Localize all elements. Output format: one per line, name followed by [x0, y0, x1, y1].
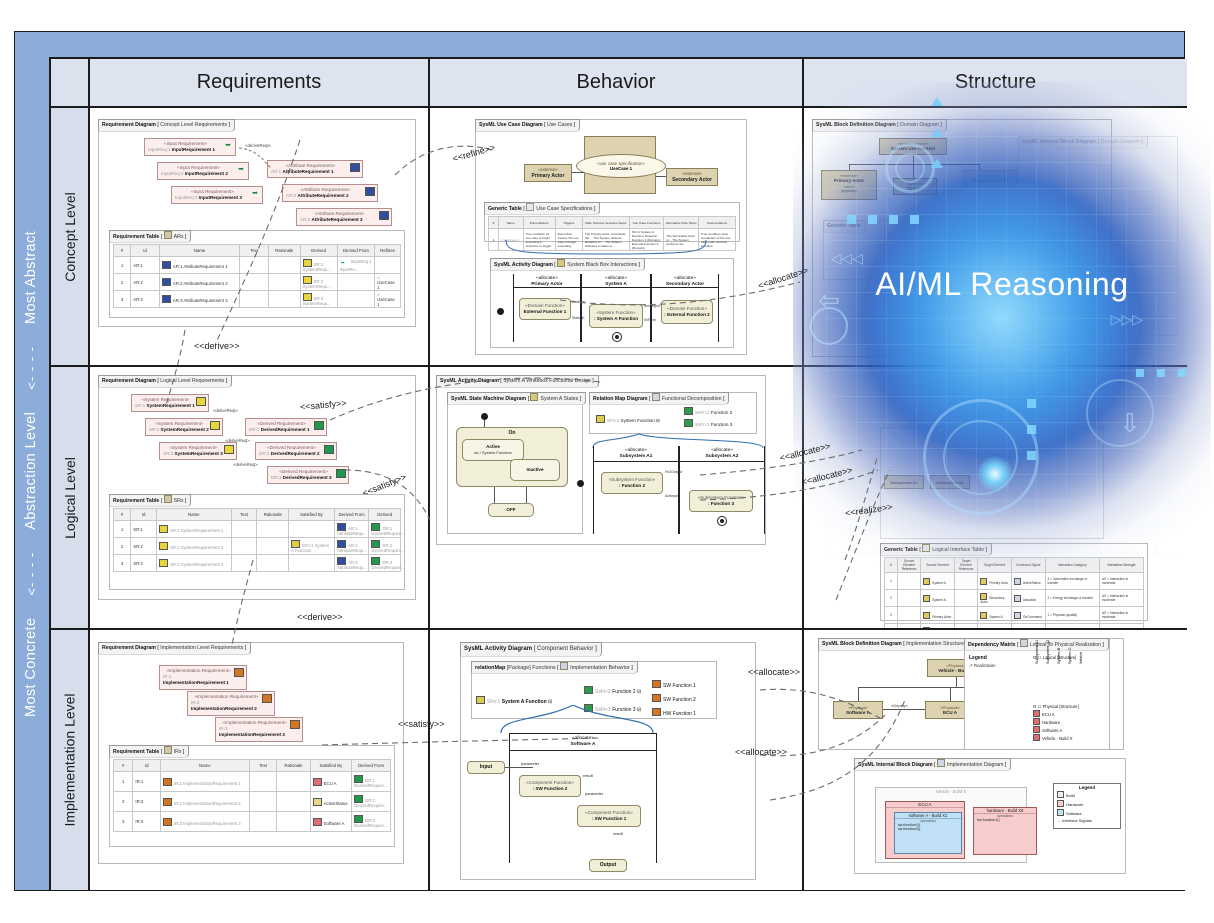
block-subsystem-a1[interactable]: Subsystem A1: [884, 475, 924, 489]
cell-id: IR:1: [133, 772, 161, 792]
matrix-legend-item: ↗ Realization: [969, 663, 1031, 669]
function-icon: [476, 696, 485, 704]
req-id: InputReq:1: [148, 147, 170, 152]
req-id: AR:3: [300, 217, 310, 222]
cell-concept-requirements: Requirement Diagram [ Concept Level Requ…: [90, 108, 430, 367]
action-external-function-2[interactable]: «Domain Function» : External Function 2: [661, 300, 713, 324]
cell-name: SR:1 SystemRequirement 1: [157, 521, 232, 538]
cell-id: AR:2: [131, 274, 160, 291]
ibd-legend: Legend Build Hardware Software → Interfa…: [1053, 783, 1121, 829]
table-row[interactable]: 3 AR:3 AR:3 AttributeRequirement 3 SR:3 …: [114, 291, 401, 308]
generic-table-usecase-specs: Generic Table [ Use Case Specifications …: [484, 202, 740, 242]
diagram-title-tab: SysML Use Case Diagram [ Use Cases ]: [475, 119, 580, 132]
matrix-row-1[interactable]: ECU A: [1033, 710, 1106, 717]
physical-icon: [1033, 734, 1040, 741]
cell-name: SR:3 SystemRequirement 3: [157, 555, 232, 572]
table-row[interactable]: 3 SR:3 SR:3 SystemRequirement 3 AR:3 Att…: [114, 555, 401, 572]
signal-icon: [1014, 612, 1021, 619]
legend-item-hardware: Hardware: [1054, 799, 1120, 808]
cell-concept-structure: SysML Block Definition Diagram [ Domain …: [804, 108, 1187, 367]
th-id: Id: [131, 509, 157, 521]
th-preconditions: Preconditions: [523, 217, 555, 229]
diagram-kind: Requirement Diagram: [102, 645, 156, 651]
pin-label-statusin: StatusIn: [572, 316, 584, 320]
th-name: Name: [159, 245, 239, 257]
th-num: #: [114, 509, 131, 521]
th-derived-from: Derived From: [334, 509, 368, 521]
action-sw-function-2[interactable]: «Component Function» : SW Function 2: [519, 775, 581, 797]
yellow-req-icon: [159, 559, 168, 567]
green-req-icon: [354, 795, 363, 803]
diagram-name: Use Cases: [547, 122, 572, 128]
diagram-kind: SysML Block Definition Diagram: [816, 122, 896, 128]
cell-strength: 4/2 = Interaction is moderate: [1099, 607, 1143, 624]
cell-rationale: [268, 291, 300, 308]
blue-req-icon: [162, 278, 171, 286]
cell-satisfied-by: [289, 555, 335, 572]
cell-text: [249, 772, 277, 792]
cell-name: IR:3 ImplementationRequirement 3: [161, 812, 250, 832]
table-chip-icon: [164, 746, 172, 754]
cell-num: 3: [114, 812, 133, 832]
orange-req-icon: [234, 668, 244, 677]
cell-tgt: Secondary Actor: [978, 590, 1012, 607]
diagram-kind: Requirement Diagram: [102, 122, 156, 128]
diagram-kind: SysML Use Case Diagram: [479, 122, 543, 128]
relmap-mid-2[interactable]: SsFn:2 Function 2 ⊟: [584, 686, 641, 695]
table-row[interactable]: 3 Primary Actor System A OnCommand 1 = P…: [885, 607, 1144, 624]
table-chip-icon: [526, 203, 534, 211]
diagram-kind: SysML Activity Diagram: [440, 378, 499, 384]
cell-id: SR:2: [131, 538, 157, 555]
state-inactive[interactable]: Inactive: [510, 459, 560, 481]
cell-num: 3: [114, 555, 131, 572]
table-tab-name: ARs: [174, 234, 184, 240]
matrix-col-2: Subsystem A2: [1046, 640, 1050, 664]
build-swatch-icon: [1057, 791, 1064, 798]
table-chip-icon: [164, 231, 172, 239]
blue-req-icon: [365, 187, 375, 196]
cell-num: 2: [114, 274, 131, 291]
orange-req-icon: [262, 694, 272, 703]
req-box-impl-2[interactable]: «Implementation Requirement» IR:2 Implem…: [187, 691, 275, 716]
action-system-a-function[interactable]: «System Function» : System A Function: [589, 304, 643, 328]
table-tab-name: IRs: [174, 749, 182, 755]
logical-swimlanes: «allocate»Subsystem A1 «allocate»Subsyst…: [593, 446, 765, 534]
table-chip-icon: [164, 495, 172, 503]
cell-id: SR:1: [131, 521, 157, 538]
th-functions: Use Case Functions: [629, 217, 664, 229]
green-req-icon: [354, 775, 363, 783]
req-box-derived-3[interactable]: «Derived Requirement» DR:3 DerivedRequir…: [267, 466, 349, 484]
diagram-name: Implementation Diagram: [947, 762, 1004, 768]
block-secondary-actor[interactable]: «external» Secondary Actor: [666, 168, 718, 186]
green-arrow-icon: ➥: [236, 165, 246, 174]
relation-label-derive-1: <<derive>>: [194, 341, 240, 351]
cell-refines: [375, 257, 401, 274]
cell-derived-from: ➥InputReq:1 InputRe...: [337, 257, 374, 274]
requirement-table-logical: Requirement Table [ SRs ] # Id Name Text…: [109, 494, 405, 590]
diagram-title-tab: SysML Activity Diagram [ System Black Bo…: [490, 258, 645, 271]
actor-name: Secondary Actor: [672, 177, 712, 183]
initial-node: [497, 308, 504, 315]
relmap-package: [Package] Functions: [507, 665, 556, 671]
diagram-name: Concept Level Requirements: [160, 122, 227, 128]
pin-label-cmdout: CmdOut: [572, 300, 585, 304]
th-src: Source Element: [921, 558, 955, 573]
matrix-col-5: Vehicle: [1079, 652, 1083, 664]
software-swatch-icon: [1057, 809, 1064, 816]
edge-label-derivereqt: «deriveReqt»: [245, 143, 271, 148]
ibd-implementation-diagram: SysML Internal Block Diagram [ Implement…: [854, 758, 1126, 874]
part-software-a[interactable]: software A - Build X1 operations sw func…: [894, 812, 962, 854]
matrix-row-3[interactable]: Software A: [1033, 726, 1106, 733]
req-id: AR:1: [271, 169, 281, 174]
diagram-name: System A States: [540, 396, 578, 402]
diagram-name: Implementation Level Requirements: [160, 645, 243, 651]
cell-satisfied-by: ActiveStatus: [310, 792, 352, 812]
relation-label-derive-2: <<derive>>: [297, 612, 343, 622]
block-system-use-context[interactable]: «system context» System Use Context: [879, 138, 947, 155]
concept-requirements-table: # Id Name Text Rationale Derived Derived…: [113, 244, 401, 308]
th-signal: Command Signal: [1011, 558, 1045, 573]
cell-category: 1 = Physical (spatial): [1045, 607, 1099, 624]
requirement-table-implementation: Requirement Table [ IRs ] # Id Name Text…: [109, 745, 395, 847]
relmap-root[interactable]: SFn:1 System Function ⊟: [596, 415, 660, 424]
software-icon: [313, 818, 322, 826]
requirement-diagram-concept: Requirement Diagram [ Concept Level Requ…: [98, 119, 416, 327]
part-hardware-build-x0[interactable]: hardware - Build X0 operations hw functi…: [973, 807, 1037, 855]
diagram-title-tab: Requirement Diagram [ Concept Level Requ…: [98, 119, 235, 132]
diagram-kind: Requirement Diagram: [102, 378, 156, 384]
yellow-req-icon: [224, 445, 234, 454]
cell-rationale: [257, 521, 289, 538]
pin-label-fn2output: Fn2Output: [665, 470, 682, 474]
th-id: Id: [133, 760, 161, 772]
row-header-logical-level: Logical Level: [51, 367, 90, 630]
pin-label-parameter-1: parameter: [521, 761, 539, 766]
action-function-3[interactable]: «Subsystem Function» : Function 3: [689, 490, 753, 512]
cell-num: 2: [885, 590, 898, 607]
table-title-tab: Generic Table [ Use Case Specifications …: [484, 202, 600, 215]
diagram-kind: SysML State Machine Diagram: [451, 396, 526, 402]
th-text: Text: [249, 760, 277, 772]
cell-derived-from: AR:2 AttributeRequ...: [334, 538, 368, 555]
usecase-ellipse[interactable]: «use case specification» UseCase 1: [576, 154, 666, 178]
table-row[interactable]: 1 IR:1 IR:1 ImplementationRequirement 1 …: [114, 772, 391, 792]
pin-label-snsoutput: SnsOutput: [644, 304, 660, 308]
diagram-name: System Black Box Interactions: [567, 262, 637, 268]
edge-label-derivereqt-2: «deriveReqt»: [225, 438, 250, 443]
subfunction-icon: [584, 686, 593, 694]
diagram-title-tab: SysML Internal Block Diagram [ Implement…: [854, 758, 1011, 771]
matrix-name: Logical To Physical Realization: [1030, 642, 1101, 648]
yellow-req-icon: [210, 421, 220, 430]
physical-icon: [1033, 710, 1040, 717]
subfunction-icon: [684, 407, 693, 415]
th-num: #: [489, 217, 499, 229]
matrix-corner-cell: [51, 59, 90, 108]
cell-impl-requirements: Requirement Diagram [ Implementation Lev…: [90, 630, 430, 890]
th-rationale: Rationale: [277, 760, 310, 772]
table-row[interactable]: 2 System A Secondary Actor Actuation 2 =…: [885, 590, 1144, 607]
blue-req-icon: [337, 557, 346, 565]
activity-final-node: [612, 332, 622, 342]
req-id: AR:2: [286, 193, 296, 198]
state-off[interactable]: OFF: [488, 503, 534, 517]
diagram-name: Domain Diagram: [900, 122, 939, 128]
req-box-system-3[interactable]: «System Requirement» SR:3 SystemRequirem…: [159, 442, 237, 460]
physical-icon: [1033, 718, 1040, 725]
req-box-attribute-1[interactable]: «Attribute Requirement» AR:1 AttributeRe…: [267, 160, 363, 178]
table-row[interactable]: 2 AR:2 AR:2 AttributeRequirement 2 SR:2 …: [114, 274, 401, 291]
yellow-req-icon: [159, 542, 168, 550]
cell-derived-from: [337, 274, 374, 291]
activity-diagram-component-behavior: SysML Activity Diagram [ Component Behav…: [460, 642, 756, 880]
table-row[interactable]: 3 IR:3 IR:3 ImplementationRequirement 3 …: [114, 812, 391, 832]
cell-derived: SR:3 SystemRequ...: [300, 291, 337, 308]
cell-refines: ○ UseCase 1: [375, 274, 401, 291]
cell-text: [249, 812, 277, 832]
action-external-function-1[interactable]: «Domain Function» External Function 1: [519, 298, 571, 320]
cell-num: 3: [114, 291, 131, 308]
physical-icon: [1033, 726, 1040, 733]
orange-req-icon: [163, 798, 172, 806]
blue-req-icon: [162, 295, 171, 303]
yellow-req-icon: [159, 525, 168, 533]
table-chip-icon: [922, 544, 930, 552]
matrix-row-2[interactable]: Hardware: [1033, 718, 1106, 725]
relmap-root-impl[interactable]: SFn:1 System A Function ⊟: [476, 696, 552, 705]
block-primary-actor[interactable]: «external» Primary Actor: [524, 164, 572, 182]
relation-label-allocate-4: <<allocate>>: [748, 667, 800, 677]
blue-req-icon: [337, 523, 346, 531]
diagram-title-tab: SysML State Machine Diagram [ System A S…: [447, 392, 586, 405]
cell-id: AR:1: [131, 257, 160, 274]
green-arrow-icon: ➥: [340, 259, 349, 267]
req-box-input-1[interactable]: «Input Requirement» InputReq:1 InputRequ…: [144, 138, 236, 156]
axis-mid-label: Abstraction Level: [24, 411, 40, 529]
cell-strength: 4/2 = Interaction is moderate: [1099, 573, 1143, 590]
activity-final-node: [717, 516, 727, 526]
table-tab-name: Use Case Specifications: [536, 206, 592, 212]
cell-logical-structure: Subsystem A1 Subsystem A2 Generic Table …: [804, 367, 1187, 630]
diagram-title-tab: SysML Block Definition Diagram [ Impleme…: [818, 638, 972, 651]
pin-label-actinput: ActInput: [665, 494, 678, 498]
part-op-1: hw function1(): [974, 818, 1036, 822]
cell-rationale: [277, 812, 310, 832]
block-icon: [980, 578, 987, 585]
req-box-attribute-2[interactable]: «Attribute Requirement» AR:2 AttributeRe…: [282, 184, 378, 202]
function-icon: [291, 540, 300, 548]
generic-table-logical-interfaces: Generic Table [ Logical Interface Table …: [880, 543, 1148, 621]
impl-requirements-table: # Id Name Text Rationale Satisfied By De…: [113, 759, 391, 832]
node-input[interactable]: Input: [467, 761, 505, 774]
cell-category: 3 = Information exchange or transfer: [1045, 573, 1099, 590]
cell-derived: DR:3 DerivedRequire...: [369, 555, 401, 572]
th-derived: Derived: [369, 509, 401, 521]
table-title: Requirement Table: [113, 234, 159, 240]
cell-rationale: [277, 792, 310, 812]
cell-satisfied-by: SFn:1 System A Function: [289, 538, 335, 555]
block-system-domain[interactable]: «system» System: [893, 178, 937, 195]
node-output[interactable]: Output: [589, 859, 627, 872]
logical-requirements-table: # Id Name Text Rationale Satisfied By De…: [113, 508, 401, 572]
block-primary-actor-domain[interactable]: «external» Primary Actor values property…: [821, 170, 877, 200]
diagram-title-tab: relationMap [Package] Functions [ Implem…: [471, 661, 638, 674]
legend-item-interface-signals: → Interface Signals: [1054, 817, 1120, 824]
cell-logical-behavior: SysML Activity Diagram [ System A Whiteb…: [430, 367, 804, 630]
th-derived: Derived: [300, 245, 337, 257]
table-row[interactable]: 1 AR:1 AR:1 AttributeRequirement 1 SR:1 …: [114, 257, 401, 274]
block-icon: [980, 593, 987, 600]
orange-req-icon: [163, 818, 172, 826]
cell-num: 3: [885, 607, 898, 624]
action-function-2[interactable]: «Subsystem Function» : Function 2: [601, 472, 663, 494]
edge-label-derivereqt-3: «deriveReqt»: [233, 462, 258, 467]
ibd-frame-label: vehicle - Build X: [876, 788, 1026, 794]
table-row[interactable]: 2 SR:2 SR:2 SystemRequirement 2 SFn:1 Sy…: [114, 538, 401, 555]
blue-req-icon: [162, 261, 171, 269]
th-postconditions: Postconditions: [698, 217, 735, 229]
diagram-chip-icon: [560, 662, 568, 670]
cell-text: [231, 521, 257, 538]
diagram-chip-icon: [937, 759, 945, 767]
cell-name: AR:2 AttributeRequirement 2: [159, 274, 239, 291]
cell-derived: SR:1 SystemRequ...: [300, 257, 337, 274]
block-icon: [980, 612, 987, 619]
column-header-requirements: Requirements: [90, 59, 430, 108]
th-alt-steps: Alternative Flow Steps: [664, 217, 699, 229]
req-box-input-2[interactable]: «Input Requirement» InputReq:2 InputRequ…: [157, 162, 249, 180]
req-name: AttributeRequirement 3: [312, 217, 363, 222]
diagram-name: Component Behavior: [537, 646, 593, 652]
ibd-domain-diagram: SysML Internal Block Diagram [ Domain Di…: [1018, 136, 1178, 336]
matrix-row-4[interactable]: Vehicle - Build X: [1033, 734, 1106, 741]
req-box-impl-1[interactable]: «Implementation Requirement» IR:1 Implem…: [159, 665, 247, 690]
th-num: #: [114, 245, 131, 257]
cell-text: [240, 274, 269, 291]
cell-name: IR:1 ImplementationRequirement 1: [161, 772, 250, 792]
table-row[interactable]: 1 SR:1 SR:1 SystemRequirement 1 AR:1 Att…: [114, 521, 401, 538]
diagram-chip-icon: [652, 393, 660, 401]
requirement-table-concept: Requirement Table [ ARs ] # Id Name Text…: [109, 230, 405, 318]
block-icon: [923, 578, 930, 585]
req-box-derived-2[interactable]: «Derived Requirement» DR:2 DerivedRequir…: [255, 442, 337, 460]
th-name: Name: [161, 760, 250, 772]
green-req-icon: [371, 557, 380, 565]
action-sw-function-1[interactable]: «Component Function» : SW Function 1: [577, 805, 641, 827]
table-row[interactable]: 2 IR:2 IR:2 ImplementationRequirement 2 …: [114, 792, 391, 812]
green-arrow-icon: ➥: [250, 189, 260, 198]
req-name: InputRequirement 2: [185, 171, 228, 176]
dependency-matrix: Dependency Matrix [ Logical To Physical …: [964, 638, 1110, 750]
relmap-leaf-sw1[interactable]: SW Function 1: [652, 680, 696, 689]
table-row[interactable]: 1 System A Primary Actor ActiveStatus 3 …: [885, 573, 1144, 590]
relmap-child-3[interactable]: SsFn:3 Function 3: [684, 419, 732, 427]
cell-num: 1: [114, 257, 131, 274]
th-rationale: Rationale: [257, 509, 289, 521]
relmap-child-2[interactable]: SsFn:2 Function 2: [684, 407, 732, 415]
th-name: Name: [498, 217, 523, 229]
cell-text: [249, 792, 277, 812]
edge-label-deploy: «Deploy»: [891, 703, 908, 708]
req-box-input-3[interactable]: «Input Requirement» InputReq:3 InputRequ…: [171, 186, 263, 204]
diagram-name: Functional Decomposition: [662, 396, 722, 402]
th-derived-from: Derived From: [352, 760, 391, 772]
signal-icon: [1014, 578, 1021, 585]
req-name: AttributeRequirement 2: [298, 193, 349, 198]
cell-rationale: [277, 772, 310, 792]
cell-derived-from: [337, 291, 374, 308]
state-active[interactable]: Active do / System Function: [462, 439, 524, 461]
axis-top-label: Most Abstract: [24, 230, 40, 323]
diagram-title-tab: Relation Map Diagram [ Functional Decomp…: [589, 392, 729, 405]
activity-diagram-blackbox: SysML Activity Diagram [ System Black Bo…: [490, 258, 734, 348]
req-box-derived-1[interactable]: «Derived Requirement» DR:1 DerivedRequir…: [245, 418, 327, 436]
activity-diagram-whitebox: SysML Activity Diagram [ System A Whiteb…: [436, 375, 766, 545]
req-box-system-2[interactable]: «System Requirement» SR:2 SystemRequirem…: [145, 418, 223, 436]
th-num: #: [114, 760, 133, 772]
cell-text: [240, 291, 269, 308]
cell-satisfied-by: Software A: [310, 812, 352, 832]
th-main-steps: Main Success Scenario Steps: [582, 217, 629, 229]
diagram-title-tab: SysML Activity Diagram [ System A Whiteb…: [436, 375, 599, 388]
row-header-concept-label: Concept Level: [62, 192, 78, 282]
initial-node: [481, 413, 488, 420]
cell-name: SR:2 SystemRequirement 2: [157, 538, 232, 555]
cell-derived-from: AR:1 AttributeRequ...: [334, 521, 368, 538]
block-secondary-actor-domain[interactable]: «external» Secondary Actor: [963, 170, 1017, 187]
logical-interface-table: # Source Element Reference Source Elemen…: [884, 557, 1144, 630]
column-header-behavior: Behavior: [430, 59, 804, 108]
pin-label-result-1: result: [583, 773, 593, 778]
req-box-attribute-3[interactable]: «Attribute Requirement» AR:3 AttributeRe…: [296, 208, 392, 226]
axis-dash-upper: <- - - -: [24, 346, 39, 390]
th-triggers: Triggers: [555, 217, 582, 229]
part-ecu-a[interactable]: ECU A software A - Build X1 operations s…: [885, 801, 965, 859]
cell-text: [240, 257, 269, 274]
signal-icon: [313, 798, 322, 806]
relmap-leaf-sw2[interactable]: SW Function 2: [652, 694, 696, 703]
table-title-tab: Generic Table [ Logical Interface Table …: [880, 543, 992, 556]
diagram-kind: SysML Activity Diagram: [494, 262, 553, 268]
cell-id: SR:3: [131, 555, 157, 572]
cell-tgt: Primary Actor: [978, 573, 1012, 590]
sw-function-icon: [652, 680, 661, 688]
pin-label-enrtnin: EnRtnin: [644, 318, 656, 322]
blue-req-icon: [379, 211, 389, 220]
cell-rationale: [268, 257, 300, 274]
orange-req-icon: [290, 720, 300, 729]
req-box-impl-3[interactable]: «Implementation Requirement» IR:3 Implem…: [215, 717, 303, 742]
block-software-a[interactable]: «Physical» Software A: [833, 701, 883, 719]
block-subsystem-a2[interactable]: Subsystem A2: [930, 475, 970, 489]
part-op-2: sw function2(): [895, 827, 961, 831]
row-header-implementation-label: Implementation Level: [62, 693, 78, 826]
brace-connector: [481, 705, 721, 735]
hardware-icon: [313, 778, 322, 786]
cell-text: [231, 538, 257, 555]
cell-impl-structure: SysML Block Definition Diagram [ Impleme…: [804, 630, 1187, 890]
cell-category: 2 = Energy exchange or transfer: [1045, 590, 1099, 607]
cell-derived-from: DR:2 DerivedRequire...: [352, 792, 391, 812]
impl-swimlane-software-a: «allocate»Software A «Component Function…: [509, 733, 657, 869]
req-box-system-1[interactable]: «System Requirement» SR:1 SystemRequirem…: [131, 394, 209, 412]
cell-signal: ActiveStatus: [1011, 573, 1045, 590]
row-header-concept-level: Concept Level: [51, 108, 90, 367]
req-id: InputReq:2: [161, 171, 183, 176]
